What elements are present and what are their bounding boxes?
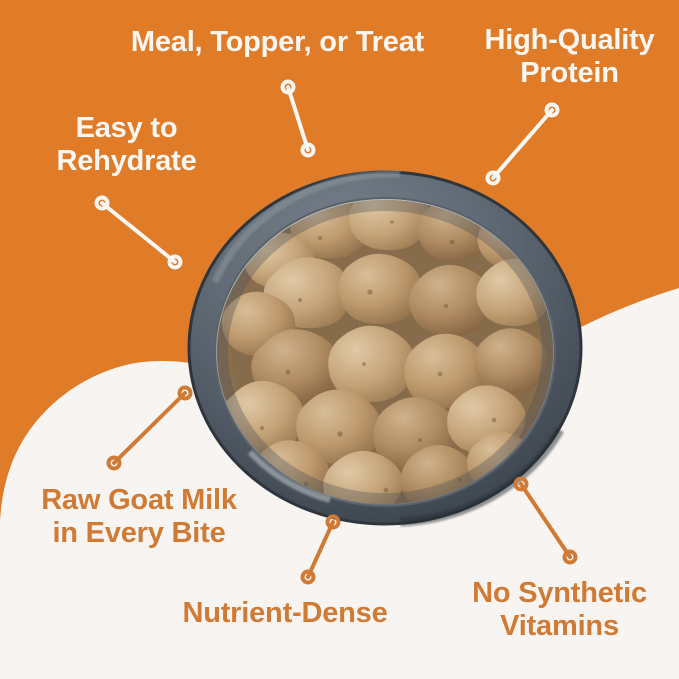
callout-label-easy-to-rehydrate: Easy to Rehydrate (14, 112, 239, 178)
infographic-canvas: Meal, Topper, or Treat High-Quality Prot… (0, 0, 679, 679)
connector-easy-to-rehydrate (97, 198, 181, 268)
callout-label-nutrient-dense: Nutrient-Dense (140, 597, 430, 630)
connector-no-synthetic-vitamins (516, 479, 576, 563)
connector-nutrient-dense (303, 517, 339, 583)
callout-label-no-synthetic-vitamins: No Synthetic Vitamins (440, 577, 679, 643)
callout-label-raw-goat-milk: Raw Goat Milk in Every Bite (8, 484, 270, 550)
connector-meal-topper-treat (283, 82, 314, 156)
connector-raw-goat-milk (109, 388, 191, 469)
callout-label-high-quality-protein: High-Quality Protein (460, 24, 679, 90)
connector-high-quality-protein (488, 105, 558, 184)
